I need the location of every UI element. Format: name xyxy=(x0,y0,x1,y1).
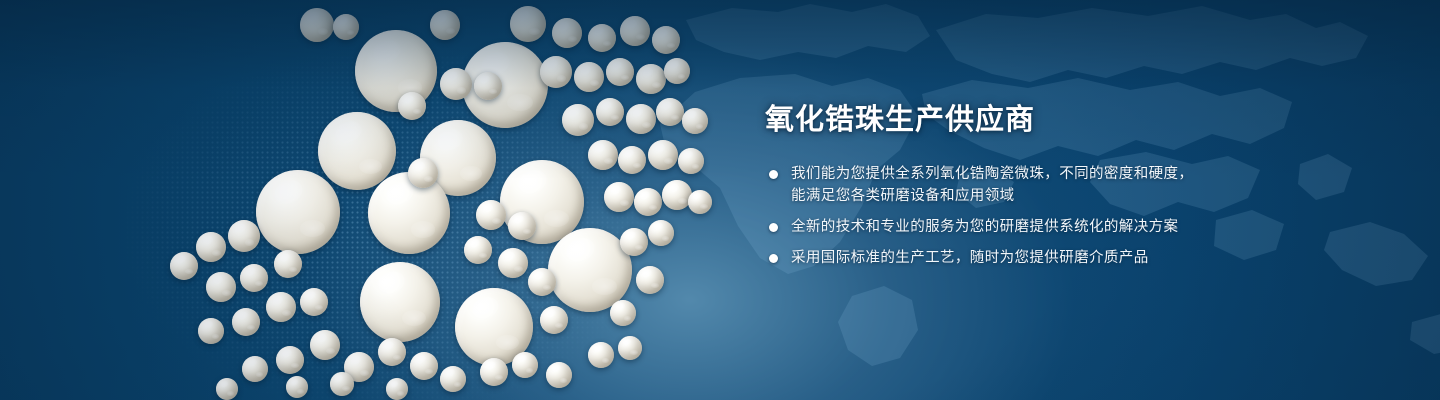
feature-bullet-line: 全新的技术和专业的服务为您的研磨提供系统化的解决方案 xyxy=(791,216,1385,238)
bullet-dot-icon xyxy=(769,170,778,179)
bullet-dot-icon xyxy=(769,223,778,232)
feature-bullet-line: 采用国际标准的生产工艺，随时为您提供研磨介质产品 xyxy=(791,247,1385,269)
page-title: 氧化锆珠生产供应商 xyxy=(765,103,1385,137)
feature-bullet-line: 我们能为您提供全系列氧化锆陶瓷微珠，不同的密度和硬度， xyxy=(791,163,1385,185)
feature-bullet: 我们能为您提供全系列氧化锆陶瓷微珠，不同的密度和硬度，能满足您各类研磨设备和应用… xyxy=(765,163,1385,207)
feature-bullet-list: 我们能为您提供全系列氧化锆陶瓷微珠，不同的密度和硬度，能满足您各类研磨设备和应用… xyxy=(765,163,1385,269)
banner-text-block: 氧化锆珠生产供应商 我们能为您提供全系列氧化锆陶瓷微珠，不同的密度和硬度，能满足… xyxy=(765,103,1385,269)
feature-bullet-line: 能满足您各类研磨设备和应用领域 xyxy=(791,185,1385,207)
bullet-dot-icon xyxy=(769,254,778,263)
feature-bullet: 全新的技术和专业的服务为您的研磨提供系统化的解决方案 xyxy=(765,216,1385,238)
feature-bullet: 采用国际标准的生产工艺，随时为您提供研磨介质产品 xyxy=(765,247,1385,269)
promo-banner: 氧化锆珠生产供应商 我们能为您提供全系列氧化锆陶瓷微珠，不同的密度和硬度，能满足… xyxy=(0,0,1440,400)
